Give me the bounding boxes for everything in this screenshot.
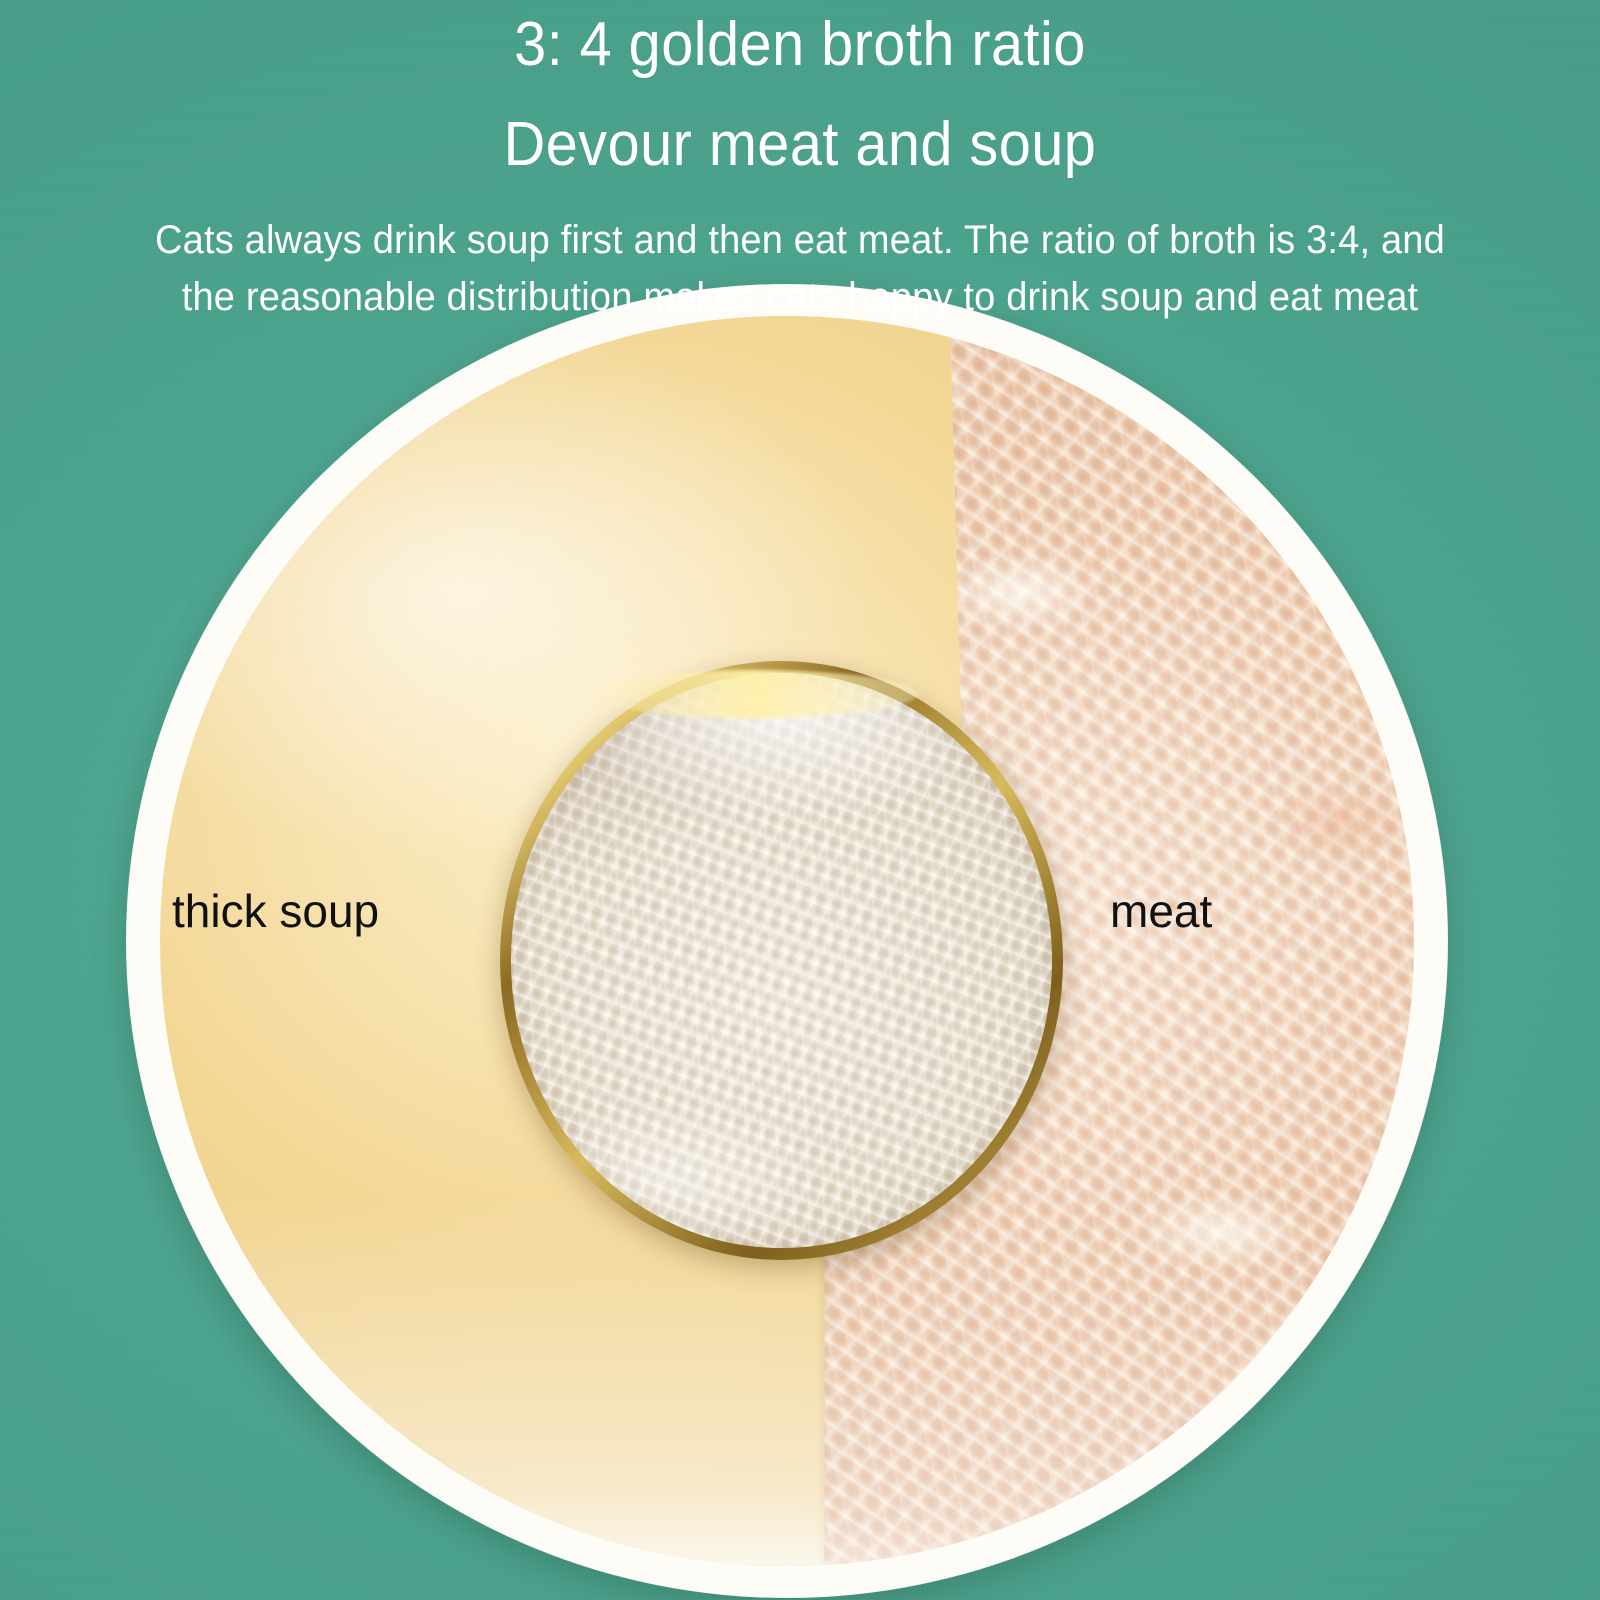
can-rim-specular-highlight [590, 670, 917, 718]
white-plate [126, 284, 1448, 1598]
can-contents [511, 673, 1052, 1248]
gold-rim-cat-food-can [500, 661, 1063, 1260]
can-gloss-highlight [511, 673, 1052, 1248]
thick-soup-label: thick soup [172, 888, 379, 934]
meat-label: meat [1110, 888, 1212, 934]
plate-container [126, 284, 1448, 1598]
